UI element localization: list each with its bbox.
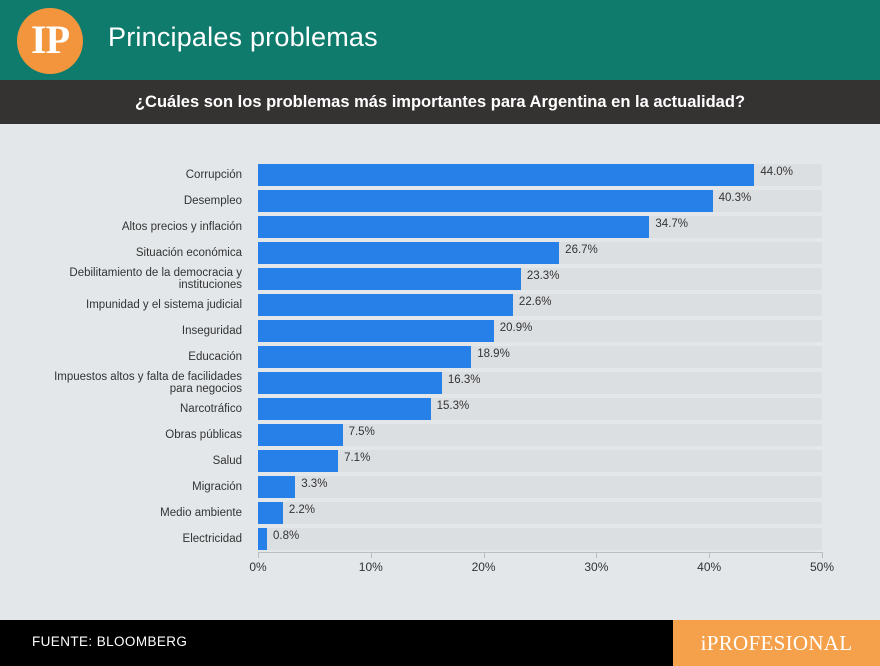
value-label: 0.8% <box>273 530 299 542</box>
bar-row: Educación18.9% <box>0 344 880 370</box>
bar-row: Salud7.1% <box>0 448 880 474</box>
bar <box>258 164 754 186</box>
category-label: Inseguridad <box>0 325 250 338</box>
bar-row: Obras públicas7.5% <box>0 422 880 448</box>
category-label: Narcotráfico <box>0 403 250 416</box>
x-axis-line <box>258 552 823 553</box>
axis-tick-label: 10% <box>359 560 383 574</box>
brand-block: iPROFESIONAL <box>673 620 880 666</box>
bar <box>258 294 513 316</box>
subtitle-bar: ¿Cuáles son los problemas más importante… <box>0 80 880 124</box>
bar-track <box>258 372 822 394</box>
value-label: 20.9% <box>500 322 533 334</box>
value-label: 7.1% <box>344 452 370 464</box>
axis-tick-label: 20% <box>472 560 496 574</box>
bar-row: Electricidad0.8% <box>0 526 880 552</box>
axis-tick <box>822 553 823 558</box>
page-title: Principales problemas <box>108 22 378 53</box>
axis-tick <box>371 553 372 558</box>
category-label: Impuestos altos y falta de facilidadespa… <box>0 371 250 396</box>
bar <box>258 320 494 342</box>
bar <box>258 476 295 498</box>
category-label: Altos precios y inflación <box>0 221 250 234</box>
bar <box>258 242 559 264</box>
category-label: Desempleo <box>0 195 250 208</box>
bar-chart: Corrupción44.0%Desempleo40.3%Altos preci… <box>0 124 880 614</box>
bar-track <box>258 346 822 368</box>
ip-logo: IP <box>17 8 83 74</box>
axis-tick-label: 50% <box>810 560 834 574</box>
bar <box>258 424 343 446</box>
bar <box>258 502 283 524</box>
axis-tick <box>709 553 710 558</box>
subtitle-question: ¿Cuáles son los problemas más importante… <box>135 93 745 112</box>
value-label: 23.3% <box>527 270 560 282</box>
value-label: 16.3% <box>448 374 481 386</box>
category-label: Debilitamiento de la democracia yinstitu… <box>0 267 250 292</box>
bar-track <box>258 242 822 264</box>
value-label: 18.9% <box>477 348 510 360</box>
bar-row: Situación económica26.7% <box>0 240 880 266</box>
axis-tick-label: 0% <box>249 560 266 574</box>
value-label: 22.6% <box>519 296 552 308</box>
bar-track <box>258 164 822 186</box>
brand-label: iPROFESIONAL <box>701 631 853 656</box>
category-label: Corrupción <box>0 169 250 182</box>
value-label: 3.3% <box>301 478 327 490</box>
category-label: Migración <box>0 481 250 494</box>
value-label: 34.7% <box>655 218 688 230</box>
axis-tick <box>258 553 259 558</box>
bar <box>258 346 471 368</box>
infographic-page: IP Principales problemas ¿Cuáles son los… <box>0 0 880 666</box>
value-label: 15.3% <box>437 400 470 412</box>
bar-track <box>258 320 822 342</box>
header-bar: IP Principales problemas <box>0 0 880 80</box>
bar-row: Migración3.3% <box>0 474 880 500</box>
axis-tick-label: 30% <box>584 560 608 574</box>
value-label: 44.0% <box>760 166 793 178</box>
bar-row: Desempleo40.3% <box>0 188 880 214</box>
ip-logo-text: IP <box>31 20 69 60</box>
bar-row: Medio ambiente2.2% <box>0 500 880 526</box>
bar-track <box>258 424 822 446</box>
bar-track <box>258 476 822 498</box>
bar <box>258 398 431 420</box>
bar <box>258 190 713 212</box>
bar <box>258 268 521 290</box>
category-label: Electricidad <box>0 533 250 546</box>
bar <box>258 216 649 238</box>
bar-track <box>258 398 822 420</box>
value-label: 26.7% <box>565 244 598 256</box>
bar <box>258 528 267 550</box>
bar <box>258 372 442 394</box>
value-label: 2.2% <box>289 504 315 516</box>
bar-track <box>258 216 822 238</box>
bar-row: Corrupción44.0% <box>0 162 880 188</box>
bar-track <box>258 450 822 472</box>
value-label: 40.3% <box>719 192 752 204</box>
bar-track <box>258 528 822 550</box>
category-label: Impunidad y el sistema judicial <box>0 299 250 312</box>
category-label: Obras públicas <box>0 429 250 442</box>
bar-row: Impuestos altos y falta de facilidadespa… <box>0 370 880 396</box>
bar-row: Inseguridad20.9% <box>0 318 880 344</box>
axis-tick-label: 40% <box>697 560 721 574</box>
bar-rows: Corrupción44.0%Desempleo40.3%Altos preci… <box>0 162 880 552</box>
bar-row: Altos precios y inflación34.7% <box>0 214 880 240</box>
value-label: 7.5% <box>349 426 375 438</box>
category-label: Salud <box>0 455 250 468</box>
category-label: Educación <box>0 351 250 364</box>
category-label: Medio ambiente <box>0 507 250 520</box>
source-label: FUENTE: BLOOMBERG <box>32 634 187 649</box>
category-label: Situación económica <box>0 247 250 260</box>
bar-track <box>258 502 822 524</box>
bar-row: Debilitamiento de la democracia yinstitu… <box>0 266 880 292</box>
bar <box>258 450 338 472</box>
axis-tick <box>596 553 597 558</box>
bar-row: Narcotráfico15.3% <box>0 396 880 422</box>
axis-tick <box>484 553 485 558</box>
bar-row: Impunidad y el sistema judicial22.6% <box>0 292 880 318</box>
